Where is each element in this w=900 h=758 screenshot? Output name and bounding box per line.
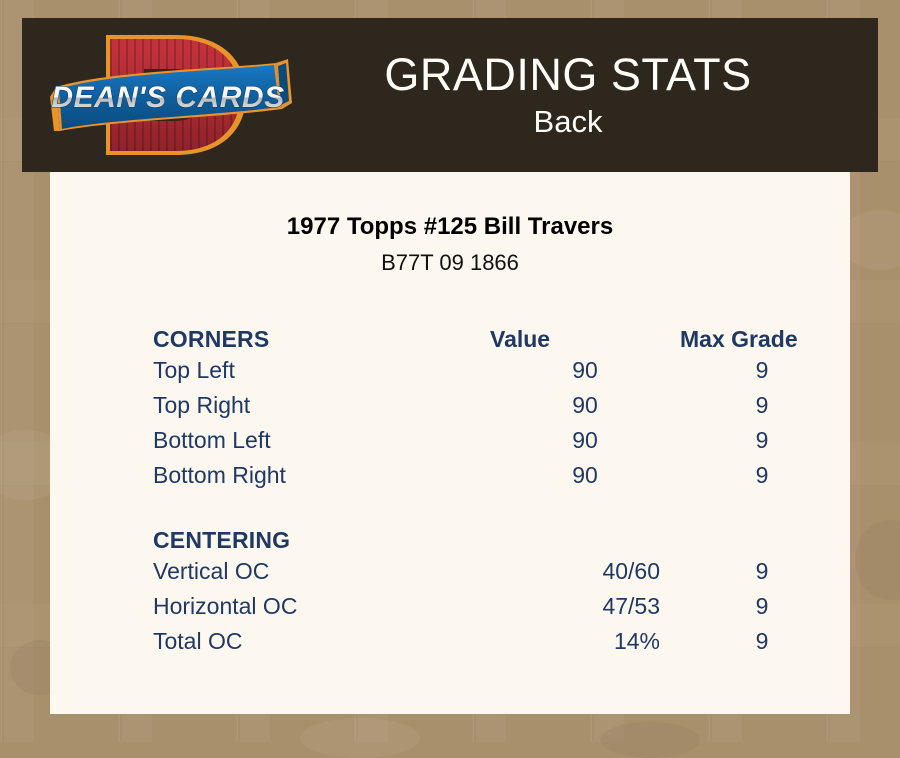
column-header-max-grade: Max Grade: [680, 326, 798, 352]
row-label-total-oc: Total OC: [153, 624, 490, 659]
row-label-bottom-right: Bottom Right: [153, 458, 490, 493]
logo-banner-text: DEAN'S CARDS: [51, 81, 284, 114]
row-label-top-left: Top Left: [153, 353, 490, 388]
logo-artwork: DEAN'S CARDS: [48, 25, 298, 165]
page-subtitle: Back: [298, 103, 838, 141]
section-header-row-centering: CENTERING: [153, 515, 844, 554]
row-value-horizontal-oc: 47/53: [490, 589, 680, 624]
row-grade-top-left: 9: [680, 353, 844, 388]
header-title-group: GRADING STATS Back: [298, 49, 838, 141]
row-grade-horizontal-oc: 9: [680, 589, 844, 624]
background-texture-blob: [600, 722, 700, 758]
table-row: Horizontal OC 47/53 9: [153, 589, 844, 624]
page-background: DEAN'S CARDS GRADING STATS Back 1977 Top…: [0, 0, 900, 742]
page-title: GRADING STATS: [298, 49, 838, 101]
row-grade-vertical-oc: 9: [680, 554, 844, 589]
table-row: Bottom Right 90 9: [153, 458, 844, 493]
table-row: Top Right 90 9: [153, 388, 844, 423]
row-grade-bottom-left: 9: [680, 423, 844, 458]
row-value-total-oc: 14%: [490, 624, 680, 659]
section-header-row-corners: CORNERS Value Max Grade: [153, 314, 844, 353]
row-value-vertical-oc: 40/60: [490, 554, 680, 589]
table-row: Vertical OC 40/60 9: [153, 554, 844, 589]
background-texture-blob: [855, 520, 900, 600]
grade-table: CORNERS Value Max Grade Top Left 90 9 To…: [153, 314, 844, 659]
row-value-top-left: 90: [490, 353, 680, 388]
row-label-vertical-oc: Vertical OC: [153, 554, 490, 589]
column-header-value: Value: [490, 326, 550, 352]
row-grade-top-right: 9: [680, 388, 844, 423]
row-label-horizontal-oc: Horizontal OC: [153, 589, 490, 624]
grading-stats: CORNERS Value Max Grade Top Left 90 9 To…: [50, 314, 850, 659]
deans-cards-logo[interactable]: DEAN'S CARDS: [48, 25, 298, 165]
table-row: Bottom Left 90 9: [153, 423, 844, 458]
background-texture-blob: [300, 718, 420, 758]
section-title-centering: CENTERING: [153, 527, 290, 553]
row-label-bottom-left: Bottom Left: [153, 423, 490, 458]
row-grade-bottom-right: 9: [680, 458, 844, 493]
table-row: Top Left 90 9: [153, 353, 844, 388]
content-panel: 1977 Topps #125 Bill Travers B77T 09 186…: [50, 172, 850, 714]
table-row: Total OC 14% 9: [153, 624, 844, 659]
header-bar: DEAN'S CARDS GRADING STATS Back: [22, 18, 878, 172]
section-gap: [153, 493, 844, 515]
card-id: B77T 09 1866: [50, 249, 850, 277]
card-title: 1977 Topps #125 Bill Travers: [50, 212, 850, 242]
row-value-top-right: 90: [490, 388, 680, 423]
row-grade-total-oc: 9: [680, 624, 844, 659]
row-label-top-right: Top Right: [153, 388, 490, 423]
section-title-corners: CORNERS: [153, 326, 269, 352]
row-value-bottom-right: 90: [490, 458, 680, 493]
row-value-bottom-left: 90: [490, 423, 680, 458]
